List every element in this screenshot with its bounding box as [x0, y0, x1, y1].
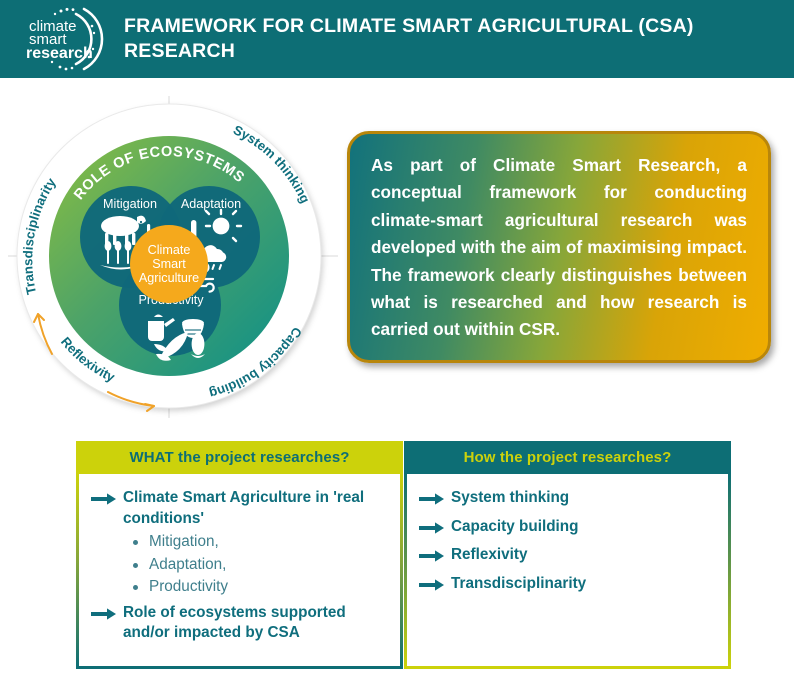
- list-item: Mitigation,: [133, 531, 390, 554]
- list-item[interactable]: Reflexivity: [419, 545, 718, 566]
- center-label-line2: Smart: [152, 257, 186, 271]
- page-header: climate smart research FRAMEWORK FOR CLI…: [0, 0, 794, 78]
- list-item[interactable]: Transdisciplinarity: [419, 574, 718, 595]
- list-item-label: Reflexivity: [451, 545, 528, 566]
- list-item[interactable]: Capacity building: [419, 517, 718, 538]
- how-panel-body: System thinking Capacity building Reflex…: [404, 474, 731, 669]
- csa-framework-diagram: Transdisciplinarity System thinking Capa…: [8, 96, 338, 418]
- arrow-right-icon: [419, 579, 445, 591]
- list-item-label: Transdisciplinarity: [451, 574, 586, 595]
- list-item-label: Capacity building: [451, 517, 578, 538]
- climate-smart-research-logo: climate smart research: [14, 6, 118, 72]
- arrow-right-icon: [419, 493, 445, 505]
- list-item: Adaptation,: [133, 554, 390, 577]
- lobe-label-adaptation: Adaptation: [181, 197, 241, 211]
- intro-text-card: As part of Climate Smart Research, a con…: [347, 131, 771, 363]
- arrow-right-icon: [419, 550, 445, 562]
- lobe-label-mitigation: Mitigation: [103, 197, 157, 211]
- arrow-right-icon: [91, 608, 117, 620]
- list-item[interactable]: System thinking: [419, 488, 718, 509]
- center-label-line3: Agriculture: [139, 271, 199, 285]
- what-sub-list: Mitigation, Adaptation, Productivity: [133, 531, 390, 599]
- list-item[interactable]: Role of ecosystems supported and/or impa…: [91, 603, 390, 644]
- arrow-right-icon: [91, 493, 117, 505]
- what-panel-body: Climate Smart Agriculture in 'real condi…: [76, 474, 403, 669]
- list-item-label: System thinking: [451, 488, 569, 509]
- what-panel-header: WHAT the project researches?: [76, 441, 403, 474]
- arrow-right-icon: [419, 522, 445, 534]
- what-panel: WHAT the project researches? Climate Sma…: [76, 441, 403, 669]
- list-item-label: Role of ecosystems supported and/or impa…: [123, 603, 390, 644]
- page-title: FRAMEWORK FOR CLIMATE SMART AGRICULTURAL…: [124, 14, 764, 64]
- how-panel-header: How the project researches?: [404, 441, 731, 474]
- list-item: Productivity: [133, 576, 390, 599]
- logo-text-research: research: [26, 45, 93, 62]
- center-label-line1: Climate: [148, 243, 191, 257]
- intro-paragraph: As part of Climate Smart Research, a con…: [371, 152, 747, 344]
- how-panel: How the project researches? System think…: [404, 441, 731, 669]
- list-item-label: Climate Smart Agriculture in 'real condi…: [123, 488, 390, 529]
- logo-icon: climate smart research: [14, 6, 118, 72]
- list-item[interactable]: Climate Smart Agriculture in 'real condi…: [91, 488, 390, 529]
